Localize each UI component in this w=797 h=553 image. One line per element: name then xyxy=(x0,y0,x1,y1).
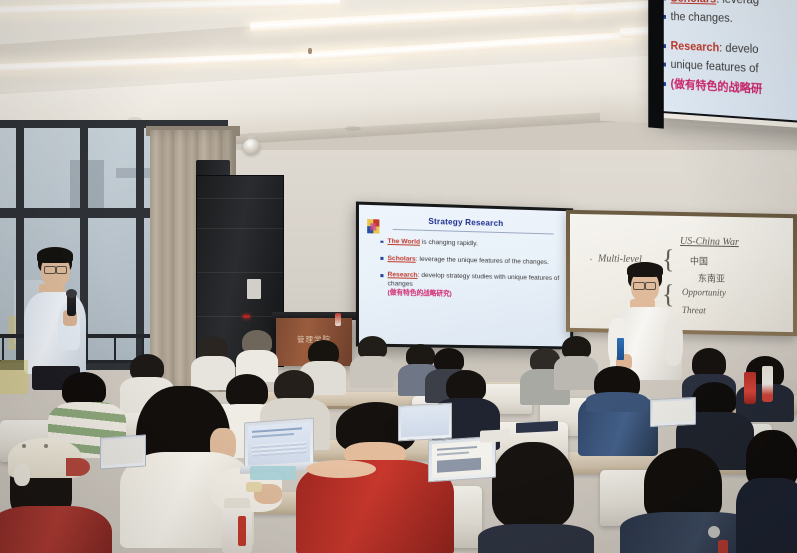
paper-sheet xyxy=(480,429,510,443)
monitor-line-2: the changes. xyxy=(671,11,797,31)
slide-bullet-2: Scholars: leverage the unique features o… xyxy=(388,255,560,268)
slide-keyword-research: Research xyxy=(388,272,418,280)
whiteboard-brace-note-1: Opportunity xyxy=(682,287,726,298)
slide-bullet-list: The World is changing rapidly. Scholars:… xyxy=(370,237,559,301)
audience-member-hoodie xyxy=(584,366,650,448)
monitor-bezel: Scholars: leverag the changes. Research:… xyxy=(658,0,797,124)
monitor-line-1-text: : leverag xyxy=(716,0,759,7)
water-bottle[interactable] xyxy=(762,366,773,402)
rack-control-panel[interactable] xyxy=(247,279,261,299)
monitor-line-4: unique features of xyxy=(671,58,797,80)
wall-poster xyxy=(0,360,28,394)
wall-monitor[interactable]: Scholars: leverag the changes. Research:… xyxy=(653,0,797,129)
slide-logo-icon xyxy=(367,219,380,238)
laptop-screen[interactable] xyxy=(100,434,146,469)
monitor-dark-edge xyxy=(648,0,664,129)
monitor-line-2-text: the changes. xyxy=(671,12,733,26)
monitor-keyword-research: Research xyxy=(671,40,720,54)
whiteboard-chinese-note-2: 东南亚 xyxy=(698,271,725,285)
lecture-hall-photo: Strategy Research The World is changing … xyxy=(0,0,797,553)
slide-bullet-1: The World is changing rapidly. xyxy=(388,238,560,251)
slide-keyword-scholars: Scholars xyxy=(388,255,416,263)
travel-tumbler[interactable] xyxy=(222,498,252,553)
projection-screen[interactable]: Strategy Research The World is changing … xyxy=(356,202,573,350)
audience-member xyxy=(356,336,390,380)
speaker-right xyxy=(608,262,686,380)
laptop-screen[interactable] xyxy=(428,436,496,483)
slide-divider xyxy=(393,229,554,235)
slide-bullet-1-text: is changing rapidly. xyxy=(420,239,478,248)
whiteboard-marker xyxy=(617,338,624,360)
slide-keyword-the-world: The World xyxy=(388,238,421,246)
monitor-line-3-text: : develo xyxy=(719,42,758,56)
laptop-screen[interactable] xyxy=(650,397,696,427)
monitor-chinese-note: (做有特色的战略研 xyxy=(671,77,797,100)
slide-title: Strategy Research xyxy=(370,215,559,230)
whiteboard-heading: US-China War xyxy=(680,236,739,248)
monitor-keyword-scholars: Scholars xyxy=(671,0,717,6)
podium-bottle xyxy=(335,313,341,326)
speaker-left xyxy=(22,248,92,388)
logo-patch xyxy=(708,526,720,538)
slide-chinese-note: (做有特色的战略研究) xyxy=(388,289,452,297)
monitor-line-1: Scholars: leverag xyxy=(671,0,797,10)
ceiling-vent xyxy=(345,126,361,131)
slide-bullet-3: Research: develop strategy studies with … xyxy=(388,272,560,302)
rack-power-led xyxy=(243,315,250,318)
ceiling-sprinkler xyxy=(308,48,312,54)
slide-bullet-2-text: : leverage the unique features of the ch… xyxy=(416,255,549,265)
slide-surface: Strategy Research The World is changing … xyxy=(359,205,570,347)
monitor-line-3: Research: develo xyxy=(671,39,797,60)
dome-camera-icon xyxy=(243,139,260,154)
monitor-screen: Scholars: leverag the changes. Research:… xyxy=(660,0,797,121)
wristwatch xyxy=(246,482,262,492)
audience-member xyxy=(240,330,274,374)
audience-member xyxy=(742,430,797,553)
whiteboard-chinese-note-1: 中国 xyxy=(690,254,708,267)
audience-member-with-cap xyxy=(0,428,110,553)
monitor-line-4-text: unique features of xyxy=(671,59,759,75)
laptop-screen[interactable] xyxy=(398,403,452,442)
water-bottle[interactable] xyxy=(744,372,756,404)
whiteboard-bullet-icon: • xyxy=(590,258,592,263)
